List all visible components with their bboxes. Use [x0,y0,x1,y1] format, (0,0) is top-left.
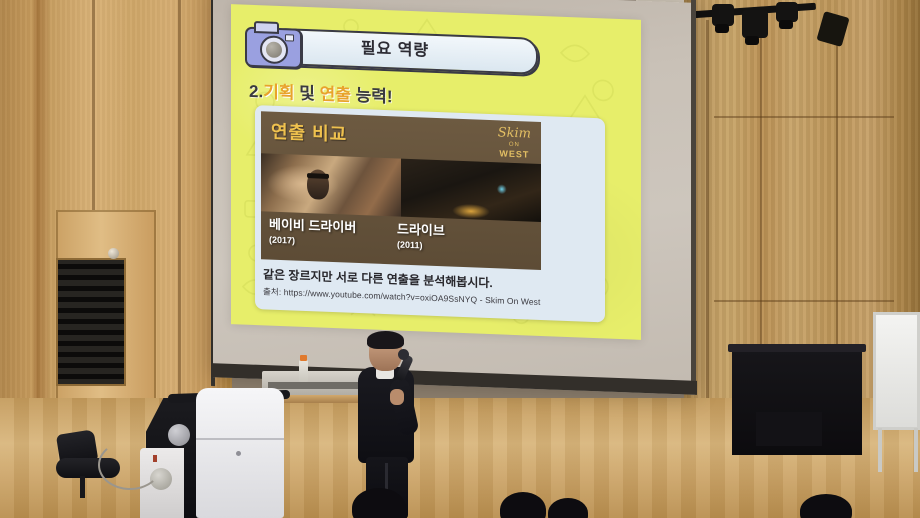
water-bottle-cap [300,355,307,361]
slide-header: 필요 역량 [245,25,545,77]
wall-seam [706,20,709,400]
film-label-b: 드라이브 (2011) [397,219,445,252]
watermark-line-1: Skim [498,126,531,140]
wall-seam [760,28,762,358]
door-knob[interactable] [108,248,119,259]
audience-head [548,498,588,518]
film-title-b: 드라이브 [397,219,445,240]
skim-on-west-watermark: Skim ON WEST [498,126,531,159]
comparison-heading: 연출 비교 [271,118,347,147]
film-year-b: (2011) [397,240,445,252]
stage-light-icon [776,2,798,22]
audience-head [352,488,406,518]
sunglasses-detail [307,173,329,179]
microphone-head [398,349,409,360]
screenshot-root: 필요 역량 2.기획 및 연출 능력! 연출 비교 Skim ON WEST [0,0,920,518]
presenter-hand [390,389,404,405]
subtitle-conjunction: 및 [294,84,319,104]
stage-light-icon [712,4,734,26]
camera-icon [245,27,302,69]
watermark-line-2: ON [498,141,531,148]
stage-light-icon [742,10,768,38]
subtitle-tail: 능력! [351,86,393,107]
water-bottle [299,360,308,382]
presentation-slide: 필요 역량 2.기획 및 연출 능력! 연출 비교 Skim ON WEST [231,4,641,340]
film-still-drive [401,159,541,222]
whiteboard [873,312,920,430]
av-cart-lock-icon[interactable] [236,451,241,456]
power-cable [98,440,162,490]
subtitle-highlight-2: 연출 [320,85,351,105]
subtitle-number: 2. [249,82,263,102]
watermark-line-3: WEST [498,149,531,159]
comparison-card: 연출 비교 Skim ON WEST 베이비 드라이버 (2017) [255,105,605,322]
av-cart-seam [196,438,284,440]
audience [0,486,920,518]
comparison-media-panel: 연출 비교 Skim ON WEST 베이비 드라이버 (2017) [261,111,541,270]
av-cart-knob[interactable] [168,424,190,446]
whiteboard-leg [914,428,918,472]
audience-head [800,494,852,518]
piano-bench [756,412,822,446]
wall-seam [714,116,894,118]
audience-head [500,492,546,518]
presenter-hair [367,331,404,349]
subtitle-highlight-1: 기획 [263,82,294,102]
screen-frame-right [691,0,696,386]
door-vent-icon [56,258,126,386]
whiteboard-leg [878,428,882,472]
film-stills-row [261,153,541,222]
film-still-baby-driver [261,153,401,216]
wall-seam [836,24,838,364]
wall-seam [714,300,894,302]
slide-subtitle: 2.기획 및 연출 능력! [249,77,393,108]
